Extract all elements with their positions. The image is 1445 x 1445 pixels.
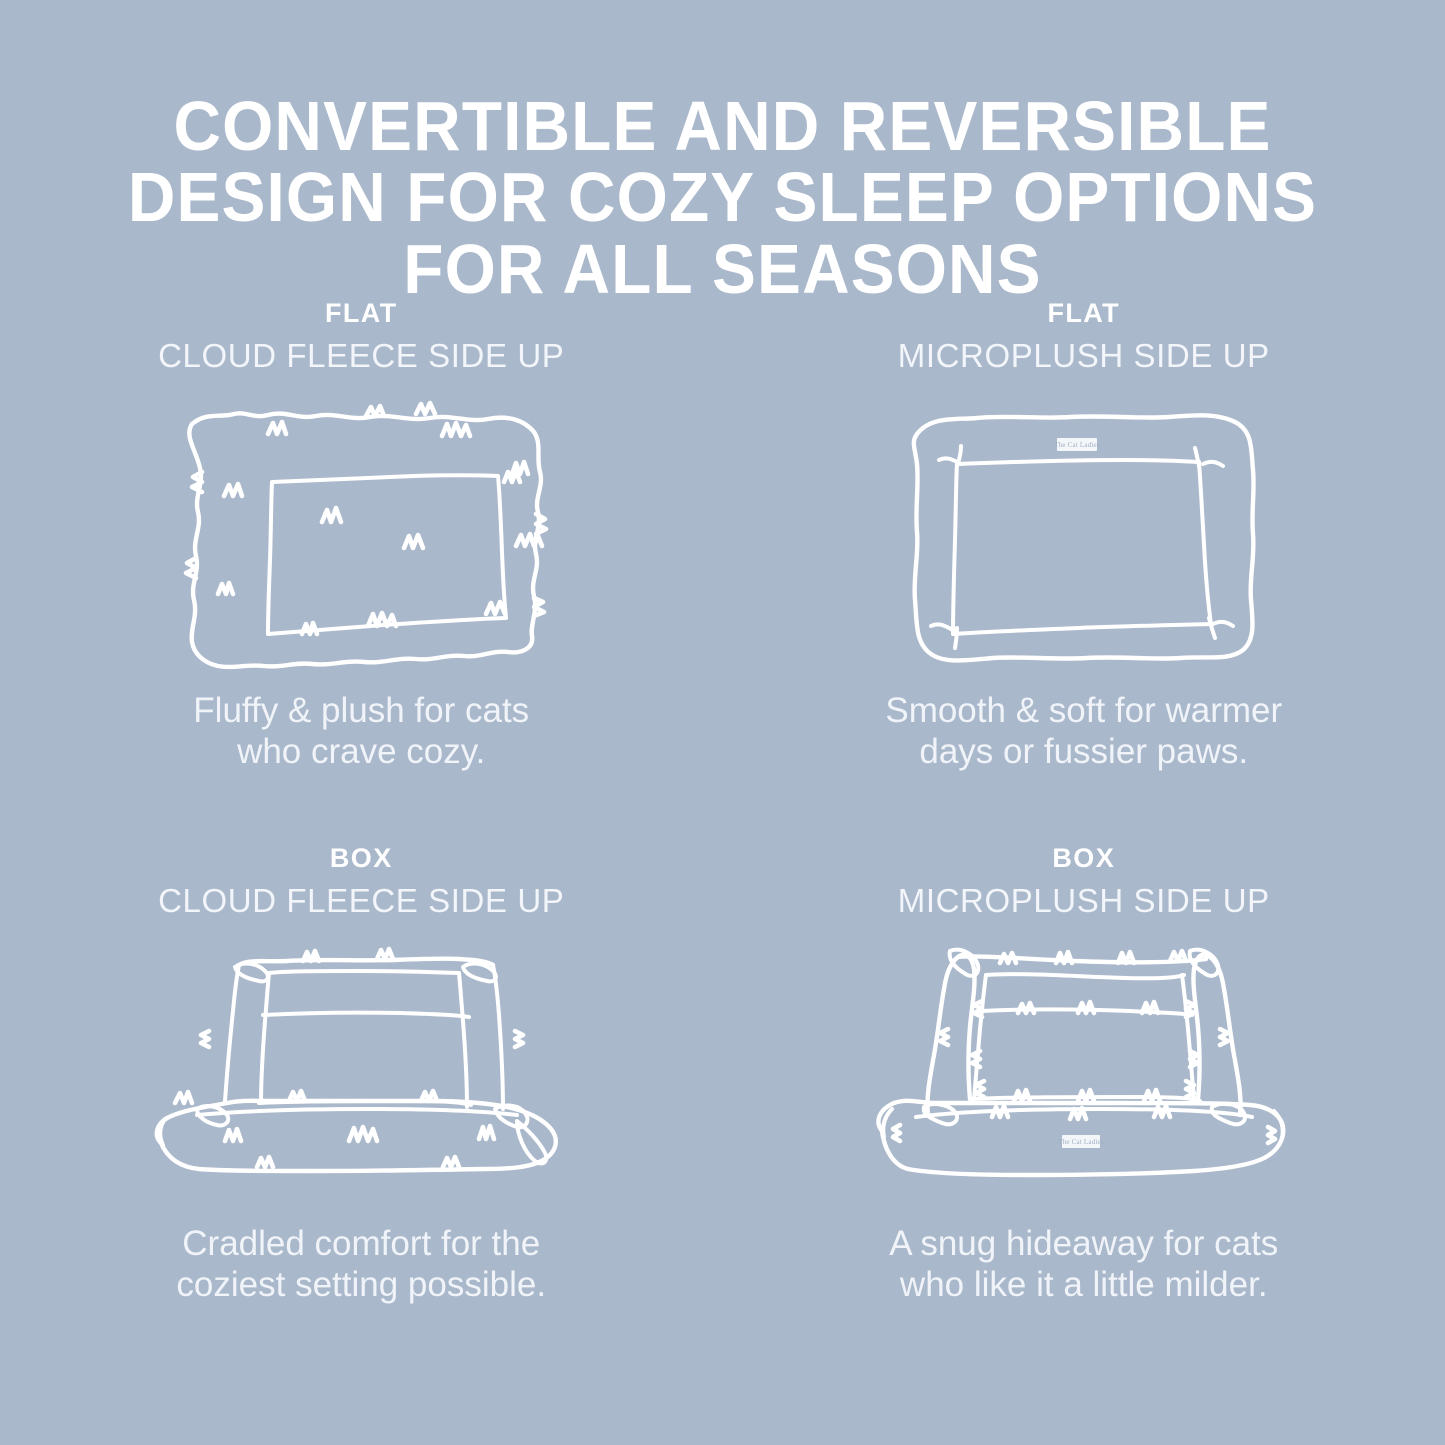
brand-tag: The Cat Ladies	[1058, 1135, 1104, 1148]
flat-bed-fleece-up-illustration	[146, 386, 576, 686]
panel-caption: Cradled comfort for the coziest setting …	[176, 1223, 546, 1306]
panel-mode-label: FLAT	[1047, 300, 1120, 327]
panel-grid: FLAT CLOUD FLEECE SIDE UP	[0, 300, 1445, 1305]
fluff-texture-group	[186, 403, 546, 634]
panel-caption: Fluffy & plush for cats who crave cozy.	[193, 690, 529, 773]
panel-side-label: CLOUD FLEECE SIDE UP	[158, 339, 564, 372]
stitch-mark-group	[931, 446, 1233, 648]
panel-flat-microplush: FLAT MICROPLUSH SIDE UP	[723, 300, 1445, 773]
panel-box-cloud-fleece: BOX CLOUD FLEECE SIDE UP	[0, 845, 723, 1306]
panel-box-microplush: BOX MICROPLUSH SIDE UP	[723, 845, 1445, 1306]
panel-mode-label: BOX	[330, 845, 393, 872]
brand-tag-text: The Cat Ladies	[1058, 1138, 1104, 1146]
panel-side-label: CLOUD FLEECE SIDE UP	[158, 884, 564, 917]
panel-mode-label: FLAT	[325, 300, 398, 327]
panel-mode-label: BOX	[1052, 845, 1115, 872]
box-bed-fleece-up-illustration	[131, 931, 591, 1201]
panel-side-label: MICROPLUSH SIDE UP	[898, 339, 1270, 372]
fluff-texture-inner-group	[322, 508, 423, 548]
panel-caption: Smooth & soft for warmer days or fussier…	[885, 690, 1282, 773]
flat-bed-microplush-up-illustration: The Cat Ladies	[869, 386, 1299, 686]
infographic-page: CONVERTIBLE AND REVERSIBLE DESIGN FOR CO…	[0, 0, 1445, 1445]
brand-tag-text: The Cat Ladies	[1054, 441, 1100, 449]
brand-tag: The Cat Ladies	[1054, 438, 1100, 451]
panel-flat-cloud-fleece: FLAT CLOUD FLEECE SIDE UP	[0, 300, 723, 773]
box-bed-microplush-up-illustration: The Cat Ladies	[854, 931, 1314, 1201]
page-title: CONVERTIBLE AND REVERSIBLE DESIGN FOR CO…	[100, 91, 1346, 305]
panel-side-label: MICROPLUSH SIDE UP	[898, 884, 1270, 917]
panel-caption: A snug hideaway for cats who like it a l…	[889, 1223, 1278, 1306]
